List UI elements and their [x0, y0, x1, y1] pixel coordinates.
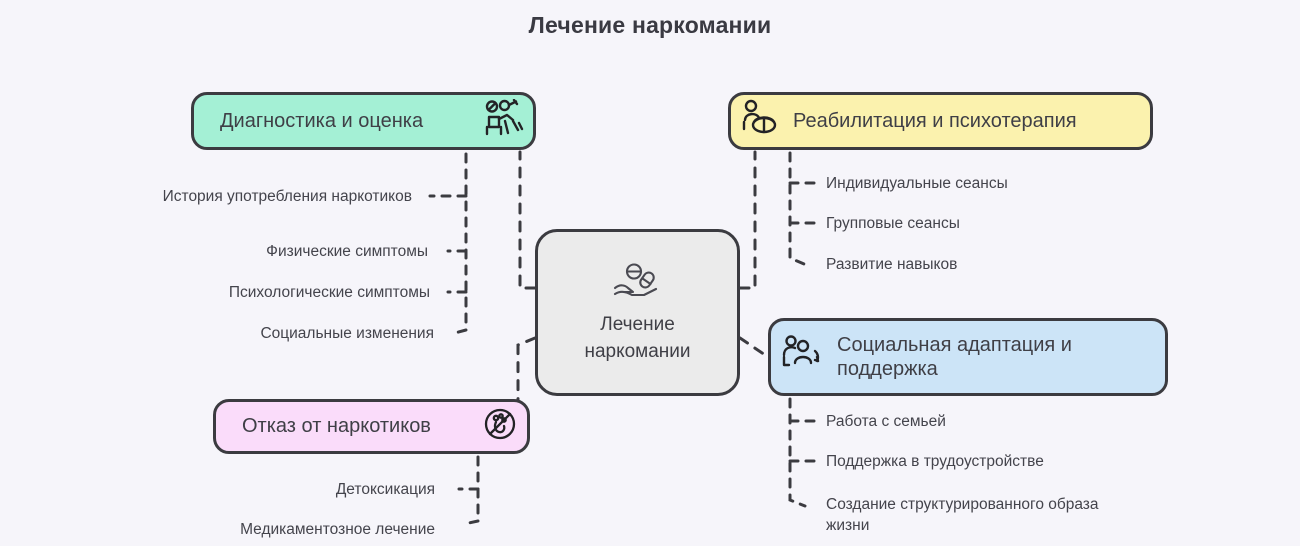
branch-label-refusal: Отказ от наркотиков: [242, 414, 431, 438]
sub-item-rehabilitation-0: Индивидуальные сеансы: [826, 174, 1008, 195]
sub-item-diagnostics-1: Физические симптомы: [140, 242, 428, 263]
sub-item-diagnostics-0: История употребления наркотиков: [140, 187, 412, 208]
branch-label-rehabilitation: Реабилитация и психотерапия: [793, 109, 1077, 133]
branch-label-diagnostics: Диагностика и оценка: [220, 109, 423, 133]
sub-item-rehabilitation-1: Групповые сеансы: [826, 214, 960, 235]
branch-node-social[interactable]: Социальная адаптация и поддержка: [768, 318, 1168, 396]
people-support-icon: [781, 333, 825, 381]
sub-item-diagnostics-3: Социальные изменения: [140, 324, 434, 345]
page-title: Лечение наркомании: [0, 12, 1300, 39]
sub-item-social-0: Работа с семьей: [826, 412, 946, 433]
sub-item-rehabilitation-2: Развитие навыков: [826, 255, 957, 276]
hand-holding-pills-icon: [611, 262, 665, 309]
sub-item-refusal-0: Детоксикация: [180, 480, 435, 501]
central-node-label-line2: наркомании: [574, 340, 700, 363]
central-node[interactable]: Лечение наркомании: [535, 229, 740, 396]
sub-item-refusal-1: Медикаментозное лечение: [180, 520, 435, 541]
person-assessment-icon: [483, 99, 525, 143]
branch-label-social-line2: поддержка: [837, 357, 1072, 381]
mindmap-canvas: Лечение наркомании: [0, 0, 1300, 546]
no-drugs-icon: [481, 405, 519, 449]
branch-label-social-line1: Социальная адаптация и: [837, 333, 1072, 357]
sub-item-social-2: Создание структурированного образа жизни: [826, 495, 1131, 536]
branch-node-diagnostics[interactable]: Диагностика и оценка: [191, 92, 536, 150]
sub-item-diagnostics-2: Психологические симптомы: [140, 283, 430, 304]
sub-item-social-1: Поддержка в трудоустройстве: [826, 452, 1044, 473]
therapy-session-icon: [741, 98, 783, 144]
branch-node-rehabilitation[interactable]: Реабилитация и психотерапия: [728, 92, 1153, 150]
central-node-label-line1: Лечение: [590, 313, 685, 336]
branch-node-refusal[interactable]: Отказ от наркотиков: [213, 399, 530, 454]
